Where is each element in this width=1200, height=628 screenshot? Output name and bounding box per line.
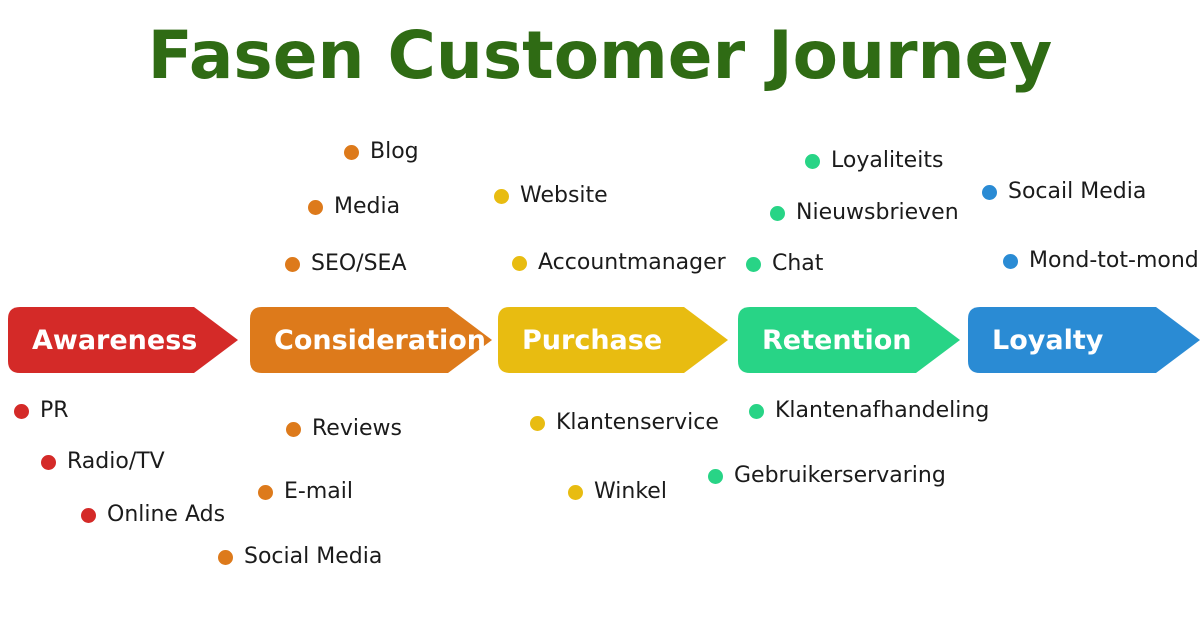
touchpoint-label: Winkel [594,481,667,503]
stage-consideration[interactable]: Consideration [250,307,492,373]
bullet-dot-icon [530,416,545,431]
bullet-dot-icon [512,256,527,271]
bullet-dot-icon [286,422,301,437]
touchpoint-label: E-mail [284,481,353,503]
bullet-dot-icon [218,550,233,565]
bullet-dot-icon [805,154,820,169]
stage-label: Awareness [32,307,197,373]
touchpoint-loyaliteits[interactable]: Loyaliteits [805,150,943,172]
touchpoint-label: Gebruikerservaring [734,465,946,487]
stage-label: Retention [762,307,911,373]
bullet-dot-icon [770,206,785,221]
touchpoint-online-ads[interactable]: Online Ads [81,504,225,526]
touchpoint-label: Website [520,185,608,207]
bullet-dot-icon [258,485,273,500]
touchpoint-label: Social Media [244,546,382,568]
bullet-dot-icon [708,469,723,484]
touchpoint-label: PR [40,400,69,422]
touchpoint-social-media[interactable]: Social Media [218,546,382,568]
touchpoint-label: Loyaliteits [831,150,943,172]
bullet-dot-icon [308,200,323,215]
touchpoint-klantenservice[interactable]: Klantenservice [530,412,719,434]
touchpoint-label: SEO/SEA [311,253,407,275]
touchpoint-blog[interactable]: Blog [344,141,419,163]
bullet-dot-icon [81,508,96,523]
stage-loyalty[interactable]: Loyalty [968,307,1200,373]
bullet-dot-icon [285,257,300,272]
touchpoint-label: Chat [772,253,823,275]
bullet-dot-icon [41,455,56,470]
stage-retention[interactable]: Retention [738,307,960,373]
touchpoint-label: Radio/TV [67,451,165,473]
touchpoint-website[interactable]: Website [494,185,608,207]
bullet-dot-icon [1003,254,1018,269]
touchpoint-e-mail[interactable]: E-mail [258,481,353,503]
touchpoint-label: Reviews [312,418,402,440]
bullet-dot-icon [344,145,359,160]
bullet-dot-icon [14,404,29,419]
touchpoint-gebruikerservaring[interactable]: Gebruikerservaring [708,465,946,487]
bullet-dot-icon [746,257,761,272]
touchpoint-seo-sea[interactable]: SEO/SEA [285,253,407,275]
touchpoint-label: Klantenafhandeling [775,400,989,422]
touchpoint-label: Klantenservice [556,412,719,434]
page-title: Fasen Customer Journey [0,20,1200,93]
touchpoint-media[interactable]: Media [308,196,400,218]
bullet-dot-icon [568,485,583,500]
touchpoint-reviews[interactable]: Reviews [286,418,402,440]
touchpoint-winkel[interactable]: Winkel [568,481,667,503]
customer-journey-diagram: Fasen Customer Journey AwarenessConsider… [0,0,1200,628]
stage-label: Purchase [522,307,662,373]
bullet-dot-icon [749,404,764,419]
stage-awareness[interactable]: Awareness [8,307,238,373]
touchpoint-label: Media [334,196,400,218]
touchpoint-radio-tv[interactable]: Radio/TV [41,451,165,473]
touchpoint-nieuwsbrieven[interactable]: Nieuwsbrieven [770,202,959,224]
touchpoint-label: Mond-tot-mond [1029,250,1199,272]
stage-label: Loyalty [992,307,1103,373]
stage-label: Consideration [274,307,486,373]
touchpoint-klantenafhandeling[interactable]: Klantenafhandeling [749,400,989,422]
touchpoint-label: Online Ads [107,504,225,526]
touchpoint-label: Blog [370,141,419,163]
bullet-dot-icon [982,185,997,200]
touchpoint-label: Nieuwsbrieven [796,202,959,224]
touchpoint-accountmanager[interactable]: Accountmanager [512,252,726,274]
touchpoint-mond-tot-mond[interactable]: Mond-tot-mond [1003,250,1199,272]
touchpoint-label: Socail Media [1008,181,1146,203]
touchpoint-socail-media[interactable]: Socail Media [982,181,1146,203]
stage-purchase[interactable]: Purchase [498,307,728,373]
bullet-dot-icon [494,189,509,204]
touchpoint-pr[interactable]: PR [14,400,69,422]
touchpoint-label: Accountmanager [538,252,726,274]
touchpoint-chat[interactable]: Chat [746,253,823,275]
